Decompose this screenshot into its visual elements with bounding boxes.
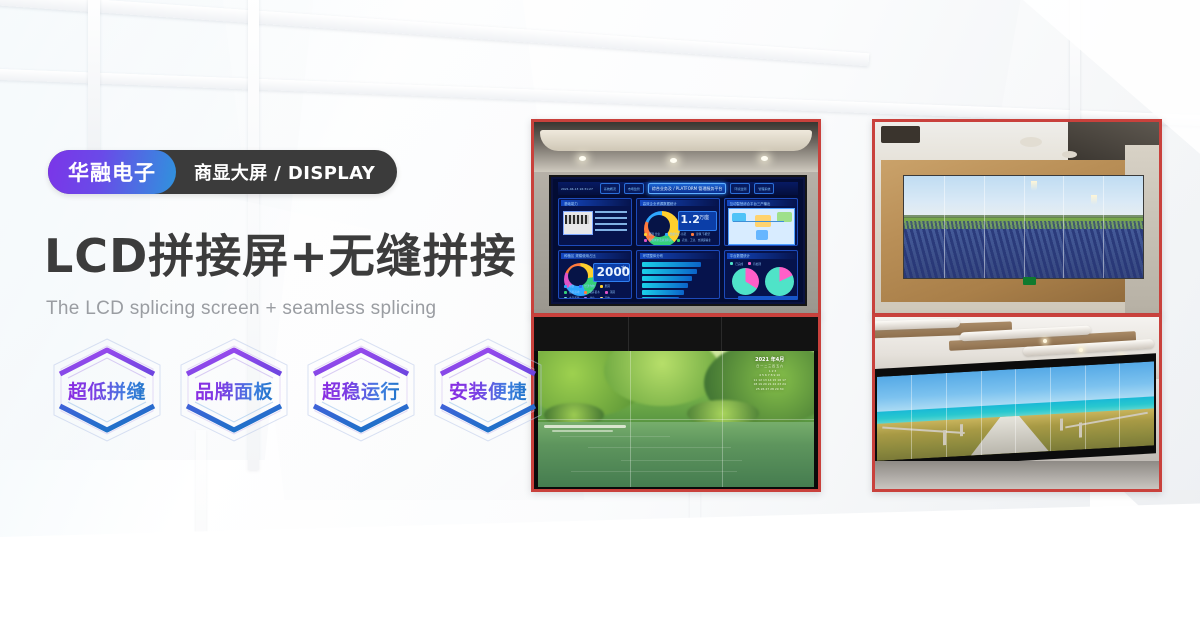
panel-title: 互动智慧综合平台三产输出: [727, 200, 798, 206]
panel-title: 基础能力: [561, 200, 632, 206]
legend-item: 花卉苗木: [584, 290, 599, 294]
legend-item: 经济作物: [579, 284, 594, 288]
photo-content: [875, 122, 1159, 313]
panel-title: 高效企业资源数据统计: [640, 200, 719, 206]
legend-item: 林业: [584, 296, 594, 299]
dashboard-tab[interactable]: 管理系统: [754, 183, 774, 194]
screen-seam: [721, 317, 722, 351]
feature-item-1[interactable]: 品牌面板: [175, 334, 293, 446]
bar-row: [642, 297, 679, 299]
page-title: LCD拼接屏+无缝拼接: [44, 232, 517, 280]
brand-category: 商显大屏 / DISPLAY: [176, 159, 375, 185]
bar-row: [642, 283, 688, 288]
screen-seam: [628, 317, 629, 351]
scene-railing: [544, 425, 627, 428]
panel-legend: 能源 企业 数据中心 示范 建筑 节能型 智慧城市及资源利用 农业、工业、交通运…: [644, 232, 714, 242]
legend-item: 能源 企业: [644, 232, 660, 236]
dashboard-panel-1: 高效企业资源数据统计 1.2 万座 能源 企业 数据中心 示范 建筑 节能型 智…: [636, 198, 719, 247]
scene-post: [1060, 418, 1063, 430]
brand-pill[interactable]: 华融电子 商显大屏 / DISPLAY: [48, 150, 397, 194]
metric-value: 1.2: [680, 213, 700, 226]
promo-banner: 华融电子 商显大屏 / DISPLAY LCD拼接屏+无缝拼接 The LCD …: [0, 0, 1200, 640]
bar-row: [642, 290, 683, 295]
flow-node: [756, 230, 768, 240]
legend-item: 已完成: [730, 262, 743, 266]
legend-item: 待处理: [748, 262, 761, 266]
video-wall-frame: [875, 353, 1156, 468]
feature-item-2[interactable]: 超稳运行: [302, 334, 420, 446]
feature-item-0[interactable]: 超低拼缝: [48, 334, 166, 446]
dashboard-tab[interactable]: 市场监管: [624, 183, 644, 194]
legend-item: 智慧城市及资源利用: [644, 238, 672, 242]
photo-willow-lake-video-wall[interactable]: 2021 年4月 日 一 二 三 四 五 六 1 2 3 4 5 6 7 8 9…: [531, 314, 821, 492]
screen-seam: [1024, 176, 1025, 277]
metric-unit: 家: [621, 265, 626, 272]
screen-seam: [538, 419, 813, 420]
ceiling-round-light: [1062, 151, 1077, 158]
dashboard-topbar: 2021-04-13 16:31:27 系统概况 市场监管 综合业务及 / PL…: [558, 182, 798, 195]
floor: [875, 461, 1159, 489]
feature-item-3[interactable]: 安装便捷: [429, 334, 547, 446]
photo-solar-farm-video-wall[interactable]: [872, 119, 1162, 316]
ceiling-cove: [540, 130, 813, 151]
scene-railing: [552, 430, 613, 432]
bar-list: [642, 262, 713, 299]
ceiling-vent: [881, 126, 921, 143]
feature-label: 安装便捷: [449, 377, 527, 404]
wall-lamp: [1091, 195, 1097, 205]
panel-text-lines: [595, 211, 627, 235]
photo-content: 2021-04-13 16:31:27 系统概况 市场监管 综合业务及 / PL…: [534, 122, 818, 313]
video-wall-screen: 2021-04-13 16:31:27 系统概况 市场监管 综合业务及 / PL…: [551, 177, 805, 303]
water-ripple: [588, 447, 731, 448]
dashboard-tab-active[interactable]: 综合业务及 / PLATFORM 管理服务平台: [648, 183, 726, 194]
legend-item: 茶园: [605, 290, 615, 294]
ceiling-downlight: [1043, 339, 1047, 343]
legend-item: 其他: [600, 296, 610, 299]
panel-title: 种植区 规模使用占比: [561, 253, 632, 259]
legend-item: 水产养殖: [564, 296, 579, 299]
flow-line: [733, 221, 784, 222]
dashboard-panel-0: 基础能力: [558, 198, 632, 247]
screen-seam: [946, 373, 947, 457]
screen-seam: [1063, 176, 1064, 277]
screen-seam: [981, 371, 982, 455]
water-ripple: [560, 436, 670, 437]
video-wall-screen: [903, 175, 1144, 278]
exit-sign-icon: [1023, 277, 1036, 285]
water-ripple: [571, 471, 736, 472]
bar-row: [642, 269, 696, 274]
feature-label: 超稳运行: [322, 377, 400, 404]
bg-beam-v1: [88, 0, 100, 160]
screen-seam: [1050, 367, 1051, 451]
page-subtitle: The LCD splicing screen + seamless splic…: [46, 298, 436, 320]
dashboard-panel-3: 种植区 规模使用占比 2000 家 粮食 经济作物 果园 蔬菜基地 花卉苗木 茶: [558, 250, 632, 299]
dashboard-footer-ticker: [738, 296, 798, 301]
dashboard-panel-2: 互动智慧综合平台三产输出: [724, 198, 798, 247]
bar-row: [642, 262, 701, 267]
screen-seam: [944, 176, 945, 277]
panel-title: 环境整体分布: [640, 253, 719, 259]
legend-item: 粮食: [564, 284, 574, 288]
dashboard-timestamp: 2021-04-13 16:31:27: [558, 184, 596, 193]
calendar-grid: 1 2 3 4 5 6 7 8 9 10 11 12 13 14 15 16 1…: [734, 369, 806, 392]
screen-row-top-dark: [534, 317, 818, 351]
screen-seam: [984, 176, 985, 277]
screen-seam: [1119, 363, 1120, 447]
bar-row: [642, 276, 692, 281]
photo-content: 2021 年4月 日 一 二 三 四 五 六 1 2 3 4 5 6 7 8 9…: [534, 317, 818, 489]
dashboard-panel-4: 环境整体分布: [636, 250, 719, 299]
feature-label: 超低拼缝: [68, 377, 146, 404]
donut-hole: [568, 266, 588, 286]
photo-content: [875, 317, 1159, 489]
calendar-overlay: 2021 年4月 日 一 二 三 四 五 六 1 2 3 4 5 6 7 8 9…: [734, 357, 806, 418]
photo-beach-boardwalk-video-wall[interactable]: [872, 314, 1162, 492]
legend-item: 建筑 节能型: [691, 232, 710, 236]
video-wall-screen: [877, 361, 1154, 460]
legend-item: 果园: [600, 284, 610, 288]
feature-label: 品牌面板: [195, 377, 273, 404]
screen-seam: [1085, 365, 1086, 449]
dashboard-tab[interactable]: 系统概况: [600, 183, 620, 194]
photo-control-room-dashboard[interactable]: 2021-04-13 16:31:27 系统概况 市场监管 综合业务及 / PL…: [531, 119, 821, 316]
panel-thumb-bars: [565, 215, 590, 224]
pie-chart: [732, 268, 759, 295]
metric-unit: 万座: [699, 214, 709, 221]
panel-title: 平台数据统计: [727, 253, 798, 259]
feature-list: 超低拼缝 品牌面板 超稳运行: [48, 334, 547, 446]
panel-legend: 已完成 待处理: [730, 262, 792, 266]
screen-seam: [1103, 176, 1104, 277]
wall-lamp: [1031, 181, 1037, 191]
video-wall-screen: 2021 年4月 日 一 二 三 四 五 六 1 2 3 4 5 6 7 8 9…: [538, 351, 813, 487]
screen-seam: [911, 374, 912, 458]
pie-chart: [765, 267, 794, 296]
dashboard-tab[interactable]: 环境监测: [730, 183, 750, 194]
dashboard-panel-5: 平台数据统计 已完成 待处理: [724, 250, 798, 299]
legend-item: 蔬菜基地: [564, 290, 579, 294]
brand-name: 华融电子: [48, 150, 176, 194]
water-ripple: [621, 460, 742, 461]
dashboard-grid: 基础能力 高效企业资源数据统计 1.2 万座 能源 企业: [558, 198, 798, 299]
legend-item: 数据中心 示范: [665, 232, 686, 236]
legend-item: 农业、工业、交通运输业: [677, 238, 711, 242]
panel-legend: 粮食 经济作物 果园 蔬菜基地 花卉苗木 茶园 水产养殖 林业 其他: [564, 284, 628, 299]
screen-seam: [1015, 369, 1016, 453]
